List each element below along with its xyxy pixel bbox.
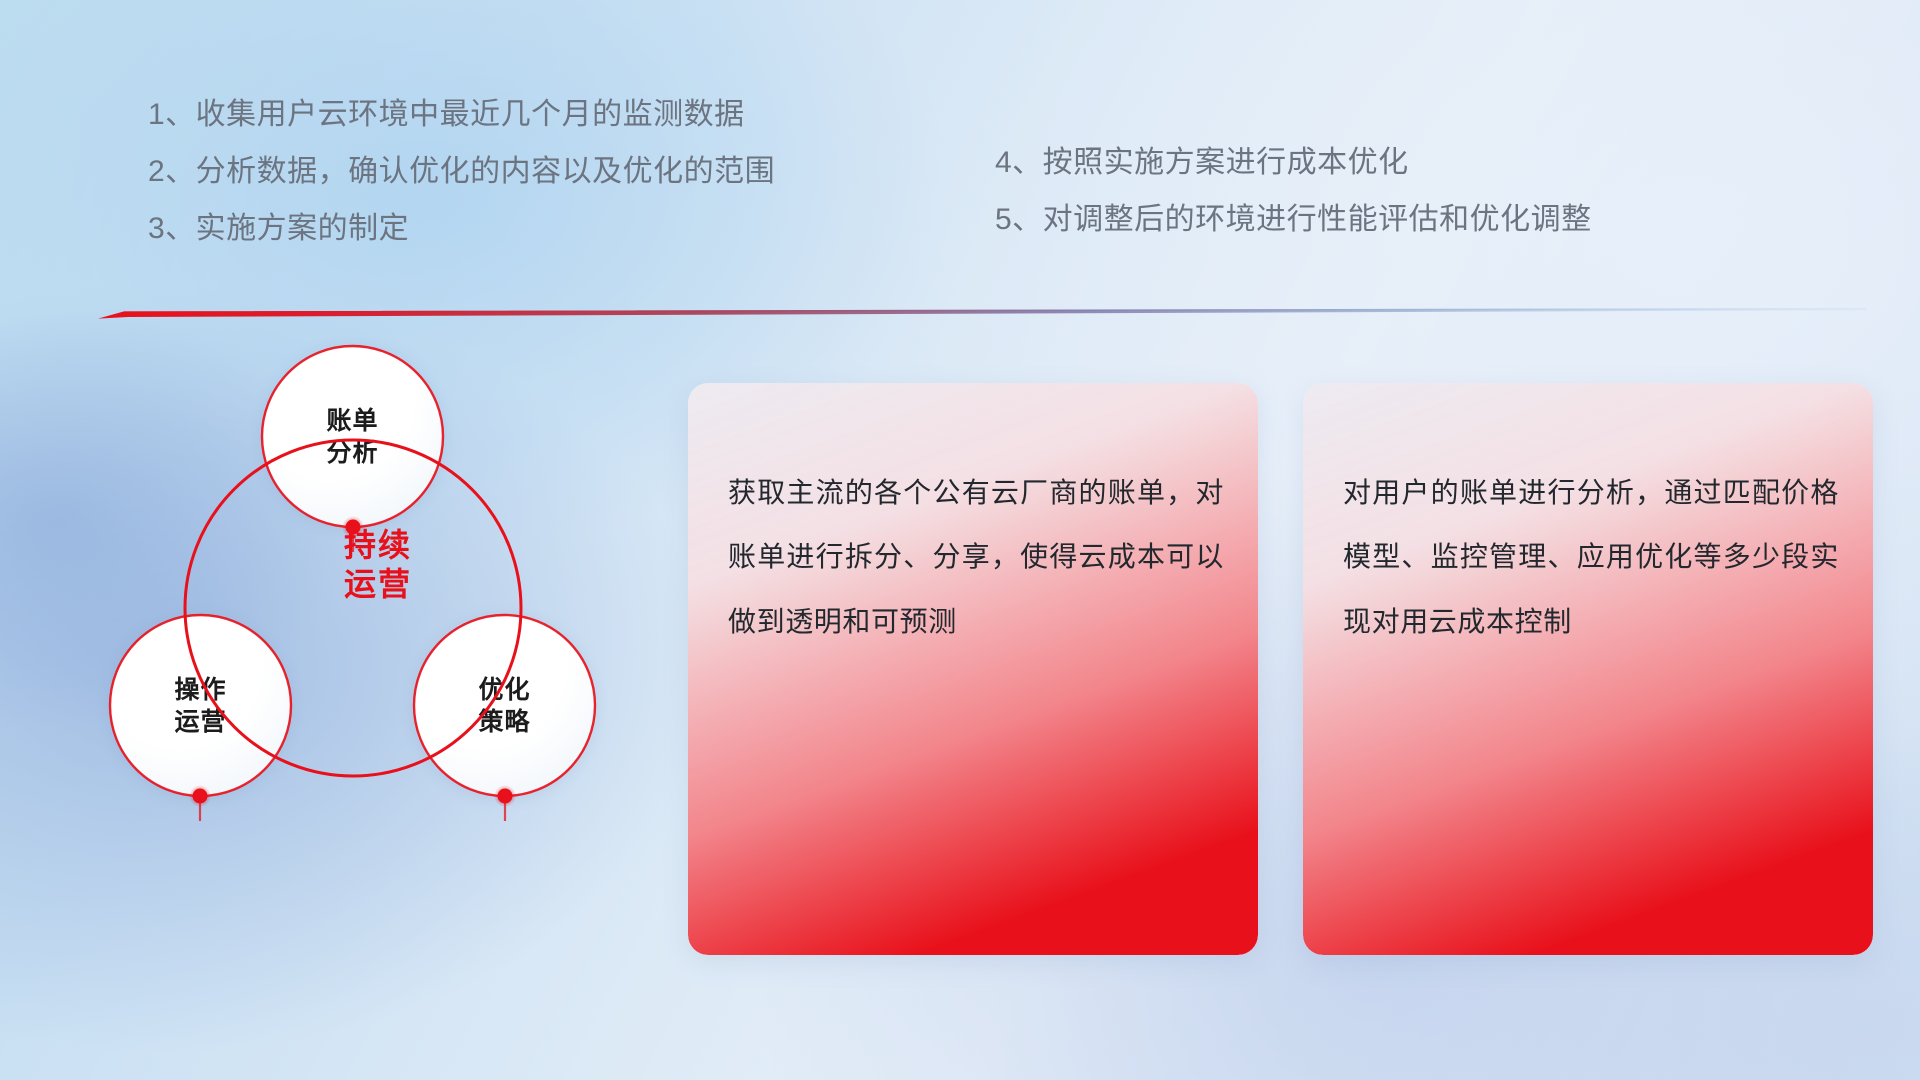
step-item-3: 3、实施方案的制定 bbox=[148, 214, 775, 244]
feature-card-cloud-cost-optimization[interactable]: 对用户的账单进行分析，通过匹配价格模型、监控管理、应用优化等多少段实现对用云成本… bbox=[1303, 383, 1873, 955]
steps-list-left: 1、收集用户云环境中最近几个月的监测数据 2、分析数据，确认优化的内容以及优化的… bbox=[148, 100, 775, 271]
cycle-center-label: 持续 运营 bbox=[88, 526, 668, 604]
cycle-diagram: 账单 分析 操作 运营 优化 策略 持续 运营 bbox=[88, 340, 668, 960]
feature-card-multi-cloud-bill-platform[interactable]: 获取主流的各个公有云厂商的账单，对账单进行拆分、分享，使得云成本可以做到透明和可… bbox=[688, 383, 1258, 955]
card-description: 对用户的账单进行分析，通过匹配价格模型、监控管理、应用优化等多少段实现对用云成本… bbox=[1343, 461, 1839, 654]
steps-list-right: 4、按照实施方案进行成本优化 5、对调整后的环境进行性能评估和优化调整 bbox=[995, 148, 1592, 262]
cycle-ring bbox=[185, 440, 521, 776]
cycle-node-dot-left bbox=[193, 789, 208, 804]
step-item-4: 4、按照实施方案进行成本优化 bbox=[995, 148, 1592, 178]
cycle-ring-graphic bbox=[88, 340, 668, 960]
step-item-1: 1、收集用户云环境中最近几个月的监测数据 bbox=[148, 100, 775, 130]
section-divider bbox=[98, 306, 1866, 319]
slide-canvas: 1、收集用户云环境中最近几个月的监测数据 2、分析数据，确认优化的内容以及优化的… bbox=[0, 0, 1920, 1080]
cycle-center-label-line2: 运营 bbox=[88, 565, 668, 604]
card-description: 获取主流的各个公有云厂商的账单，对账单进行拆分、分享，使得云成本可以做到透明和可… bbox=[728, 461, 1224, 654]
step-item-5: 5、对调整后的环境进行性能评估和优化调整 bbox=[995, 205, 1592, 235]
cycle-node-dot-right bbox=[498, 789, 513, 804]
cycle-center-label-line1: 持续 bbox=[88, 526, 668, 565]
step-item-2: 2、分析数据，确认优化的内容以及优化的范围 bbox=[148, 157, 775, 187]
